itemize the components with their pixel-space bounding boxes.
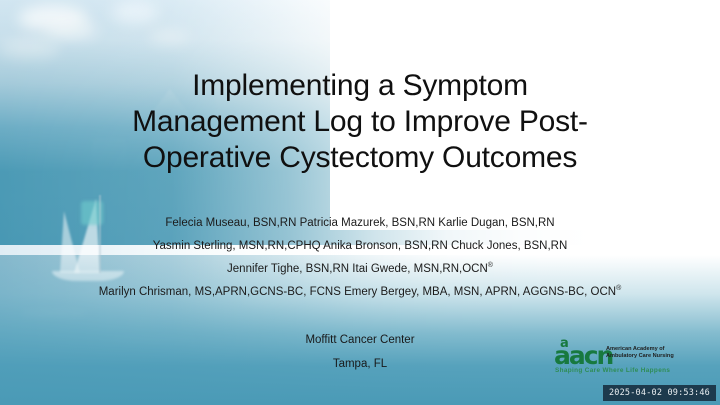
author-line: Jennifer Tighe, BSN,RN Itai Gwede, MSN,R… (0, 258, 720, 281)
aaacn-logo-organization: American Academy of Ambulatory Care Nurs… (606, 346, 686, 360)
author-line-text: Marilyn Chrisman, MS,APRN,GCNS-BC, FCNS … (99, 286, 616, 298)
timestamp-badge: 2025-04-02 09:53:46 (603, 385, 716, 401)
author-line-text: Jennifer Tighe, BSN,RN Itai Gwede, MSN,R… (227, 263, 488, 275)
author-line: Marilyn Chrisman, MS,APRN,GCNS-BC, FCNS … (0, 281, 720, 304)
aaacn-logo: aacn a American Academy of Ambulatory Ca… (554, 343, 684, 379)
registered-mark: ® (488, 262, 493, 269)
aaacn-logo-tagline: Shaping Care Where Life Happens (555, 366, 670, 375)
aaacn-organization-line-2: Ambulatory Care Nursing (606, 353, 686, 360)
aaacn-logo-wordmark-accent: a (560, 337, 569, 350)
presentation-slide: Implementing a Symptom Management Log to… (0, 0, 720, 405)
author-list: Felecia Museau, BSN,RN Patricia Mazurek,… (0, 212, 720, 304)
author-line: Yasmin Sterling, MSN,RN,CPHQ Anika Brons… (0, 235, 720, 258)
author-line: Felecia Museau, BSN,RN Patricia Mazurek,… (0, 212, 720, 235)
slide-title: Implementing a Symptom Management Log to… (108, 68, 612, 176)
slide-content: Implementing a Symptom Management Log to… (0, 0, 720, 405)
registered-mark: ® (616, 285, 621, 292)
aaacn-organization-line-1: American Academy of (606, 346, 686, 353)
